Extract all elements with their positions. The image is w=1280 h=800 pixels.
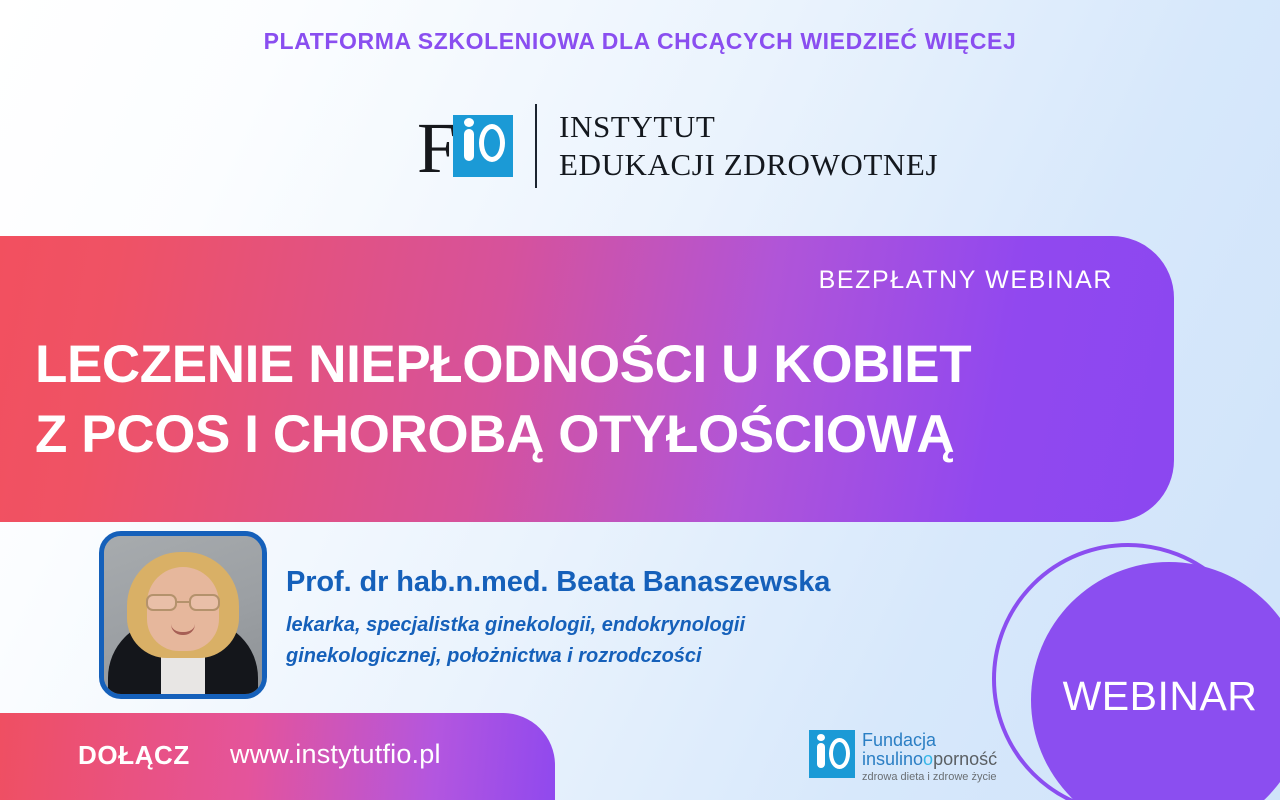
foundation-word-pornosc: porność bbox=[933, 749, 997, 769]
title-line-2: Z PCOS I CHOROBĄ OTYŁOŚCIOWĄ bbox=[35, 400, 1135, 470]
glasses-lens-left bbox=[146, 594, 177, 611]
cta-join-label: DOŁĄCZ bbox=[78, 740, 190, 771]
speaker-role-line-1: lekarka, specjalistka ginekologii, endok… bbox=[286, 610, 906, 641]
speaker-role-line-2: ginekologicznej, położnictwa i rozrodczo… bbox=[286, 641, 906, 672]
institute-logo: F INSTYTUT EDUKACJI ZDROWOTNEJ bbox=[417, 104, 938, 188]
speaker-photo bbox=[99, 531, 267, 699]
foundation-logo-text: Fundacja insulinooporność zdrowa dieta i… bbox=[862, 730, 997, 783]
glasses-bridge bbox=[177, 601, 189, 603]
io-i-dot-icon bbox=[464, 118, 474, 127]
headline-banner: BEZPŁATNY WEBINAR LECZENIE NIEPŁODNOŚCI … bbox=[0, 236, 1174, 522]
foundation-i-dot-icon bbox=[817, 734, 825, 741]
institute-logo-letter-f: F bbox=[417, 112, 457, 184]
cta-url-link[interactable]: www.instytutfio.pl bbox=[230, 739, 441, 770]
foundation-logo: Fundacja insulinooporność zdrowa dieta i… bbox=[809, 730, 997, 783]
io-o-ring-icon bbox=[479, 124, 505, 162]
banner-kicker: BEZPŁATNY WEBINAR bbox=[819, 266, 1113, 295]
glasses-lens-right bbox=[189, 594, 220, 611]
institute-name-line-2: EDUKACJI ZDROWOTNEJ bbox=[559, 146, 938, 184]
webinar-poster: PLATFORMA SZKOLENIOWA DLA CHCĄCYCH WIEDZ… bbox=[0, 0, 1280, 800]
institute-logo-name: INSTYTUT EDUKACJI ZDROWOTNEJ bbox=[559, 108, 938, 184]
institute-name-line-1: INSTYTUT bbox=[559, 108, 938, 146]
foundation-word-insulino: insulino bbox=[862, 749, 923, 769]
webinar-badge-label: WEBINAR bbox=[1040, 673, 1280, 720]
foundation-io-square-icon bbox=[809, 730, 855, 778]
foundation-name-line-1: Fundacja bbox=[862, 731, 997, 750]
logo-divider bbox=[535, 104, 537, 188]
glasses-icon bbox=[144, 594, 222, 611]
speaker-role: lekarka, specjalistka ginekologii, endok… bbox=[286, 610, 906, 672]
speaker-name: Prof. dr hab.n.med. Beata Banaszewska bbox=[286, 566, 830, 599]
foundation-word-o: o bbox=[923, 749, 933, 769]
foundation-tagline: zdrowa dieta i zdrowe życie bbox=[862, 771, 997, 784]
io-i-stem-icon bbox=[464, 129, 474, 161]
foundation-name-line-2: insulinooporność bbox=[862, 750, 997, 770]
io-square-icon bbox=[453, 115, 513, 177]
title-line-1: LECZENIE NIEPŁODNOŚCI U KOBIET bbox=[35, 330, 1135, 400]
foundation-i-stem-icon bbox=[817, 743, 825, 768]
platform-tagline: PLATFORMA SZKOLENIOWA DLA CHCĄCYCH WIEDZ… bbox=[0, 28, 1280, 55]
foundation-o-ring-icon bbox=[829, 738, 850, 769]
page-title: LECZENIE NIEPŁODNOŚCI U KOBIET Z PCOS I … bbox=[35, 330, 1135, 470]
